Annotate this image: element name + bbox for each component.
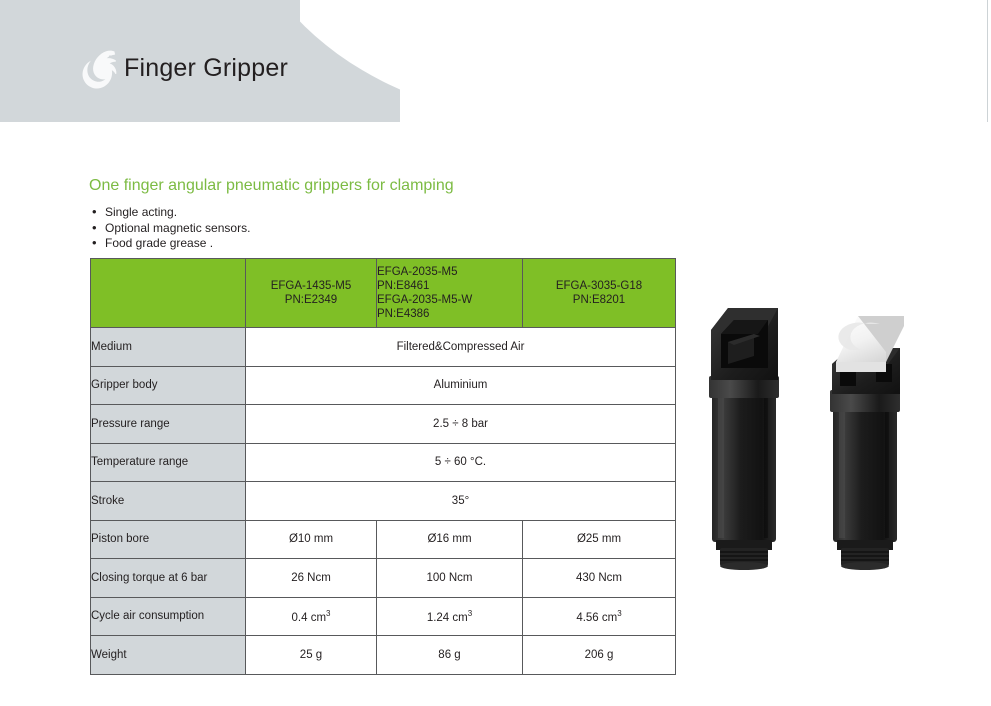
product-photo xyxy=(690,290,925,580)
table-row: Stroke 35° xyxy=(91,482,676,521)
row-value-a: 0.4 cm3 xyxy=(246,597,377,636)
table-row: Piston bore Ø10 mm Ø16 mm Ø25 mm xyxy=(91,520,676,559)
model-line: EFGA-3035-G18 xyxy=(523,279,675,293)
pn-line: PN:E8201 xyxy=(523,293,675,307)
row-label: Weight xyxy=(91,636,246,675)
row-label: Medium xyxy=(91,328,246,367)
model-line-variant: EFGA-2035-M5-W xyxy=(377,293,522,307)
row-label: Stroke xyxy=(91,482,246,521)
section-heading: One finger angular pneumatic grippers fo… xyxy=(89,177,454,195)
row-value-b: 86 g xyxy=(377,636,523,675)
row-value-merged: 5 ÷ 60 °C. xyxy=(246,443,676,482)
row-value-c: 4.56 cm3 xyxy=(523,597,676,636)
value-text: 1.24 cm xyxy=(427,612,468,624)
gripper-unit-left xyxy=(709,308,779,570)
list-item: Optional magnetic sensors. xyxy=(89,221,250,237)
row-value-merged: Filtered&Compressed Air xyxy=(246,328,676,367)
superscript: 3 xyxy=(326,609,330,618)
table-row: Gripper body Aluminium xyxy=(91,366,676,405)
row-label: Temperature range xyxy=(91,443,246,482)
table-row: Cycle air consumption 0.4 cm3 1.24 cm3 4… xyxy=(91,597,676,636)
model-line: EFGA-1435-M5 xyxy=(246,279,376,293)
right-vertical-rule xyxy=(987,0,988,122)
list-item: Single acting. xyxy=(89,205,250,221)
row-value-c: 206 g xyxy=(523,636,676,675)
dolphin-icon xyxy=(74,44,122,90)
table-row: Medium Filtered&Compressed Air xyxy=(91,328,676,367)
pn-line: PN:E2349 xyxy=(246,293,376,307)
row-value-a: 26 Ncm xyxy=(246,559,377,598)
header-cell-model-c: EFGA-3035-G18 PN:E8201 xyxy=(523,259,676,328)
row-label: Closing torque at 6 bar xyxy=(91,559,246,598)
list-item: Food grade grease . xyxy=(89,236,250,252)
table-row: Closing torque at 6 bar 26 Ncm 100 Ncm 4… xyxy=(91,559,676,598)
row-value-b: 1.24 cm3 xyxy=(377,597,523,636)
header-cell-model-a: EFGA-1435-M5 PN:E2349 xyxy=(246,259,377,328)
page-title: Finger Gripper xyxy=(124,54,288,83)
superscript: 3 xyxy=(468,609,472,618)
row-value-merged: Aluminium xyxy=(246,366,676,405)
row-label: Gripper body xyxy=(91,366,246,405)
row-label: Piston bore xyxy=(91,520,246,559)
row-value-merged: 35° xyxy=(246,482,676,521)
value-text: 0.4 cm xyxy=(292,612,327,624)
feature-bullet-list: Single acting. Optional magnetic sensors… xyxy=(89,205,250,252)
specification-table: EFGA-1435-M5 PN:E2349 EFGA-2035-M5 PN:E8… xyxy=(90,258,676,675)
model-line: EFGA-2035-M5 xyxy=(377,265,522,279)
table-header-row: EFGA-1435-M5 PN:E2349 EFGA-2035-M5 PN:E8… xyxy=(91,259,676,328)
row-value-b: 100 Ncm xyxy=(377,559,523,598)
table-row: Weight 25 g 86 g 206 g xyxy=(91,636,676,675)
row-value-b: Ø16 mm xyxy=(377,520,523,559)
value-text: 4.56 cm xyxy=(576,612,617,624)
gripper-unit-right xyxy=(830,316,904,570)
row-label: Pressure range xyxy=(91,405,246,444)
pn-line: PN:E8461 xyxy=(377,279,522,293)
row-value-c: 430 Ncm xyxy=(523,559,676,598)
header-cell-blank xyxy=(91,259,246,328)
table-row: Temperature range 5 ÷ 60 °C. xyxy=(91,443,676,482)
row-value-a: 25 g xyxy=(246,636,377,675)
row-value-a: Ø10 mm xyxy=(246,520,377,559)
table-row: Pressure range 2.5 ÷ 8 bar xyxy=(91,405,676,444)
header-cell-model-b: EFGA-2035-M5 PN:E8461 EFGA-2035-M5-W PN:… xyxy=(377,259,523,328)
superscript: 3 xyxy=(617,609,621,618)
pn-line-variant: PN:E4386 xyxy=(377,307,522,321)
row-label: Cycle air consumption xyxy=(91,597,246,636)
row-value-merged: 2.5 ÷ 8 bar xyxy=(246,405,676,444)
row-value-c: Ø25 mm xyxy=(523,520,676,559)
